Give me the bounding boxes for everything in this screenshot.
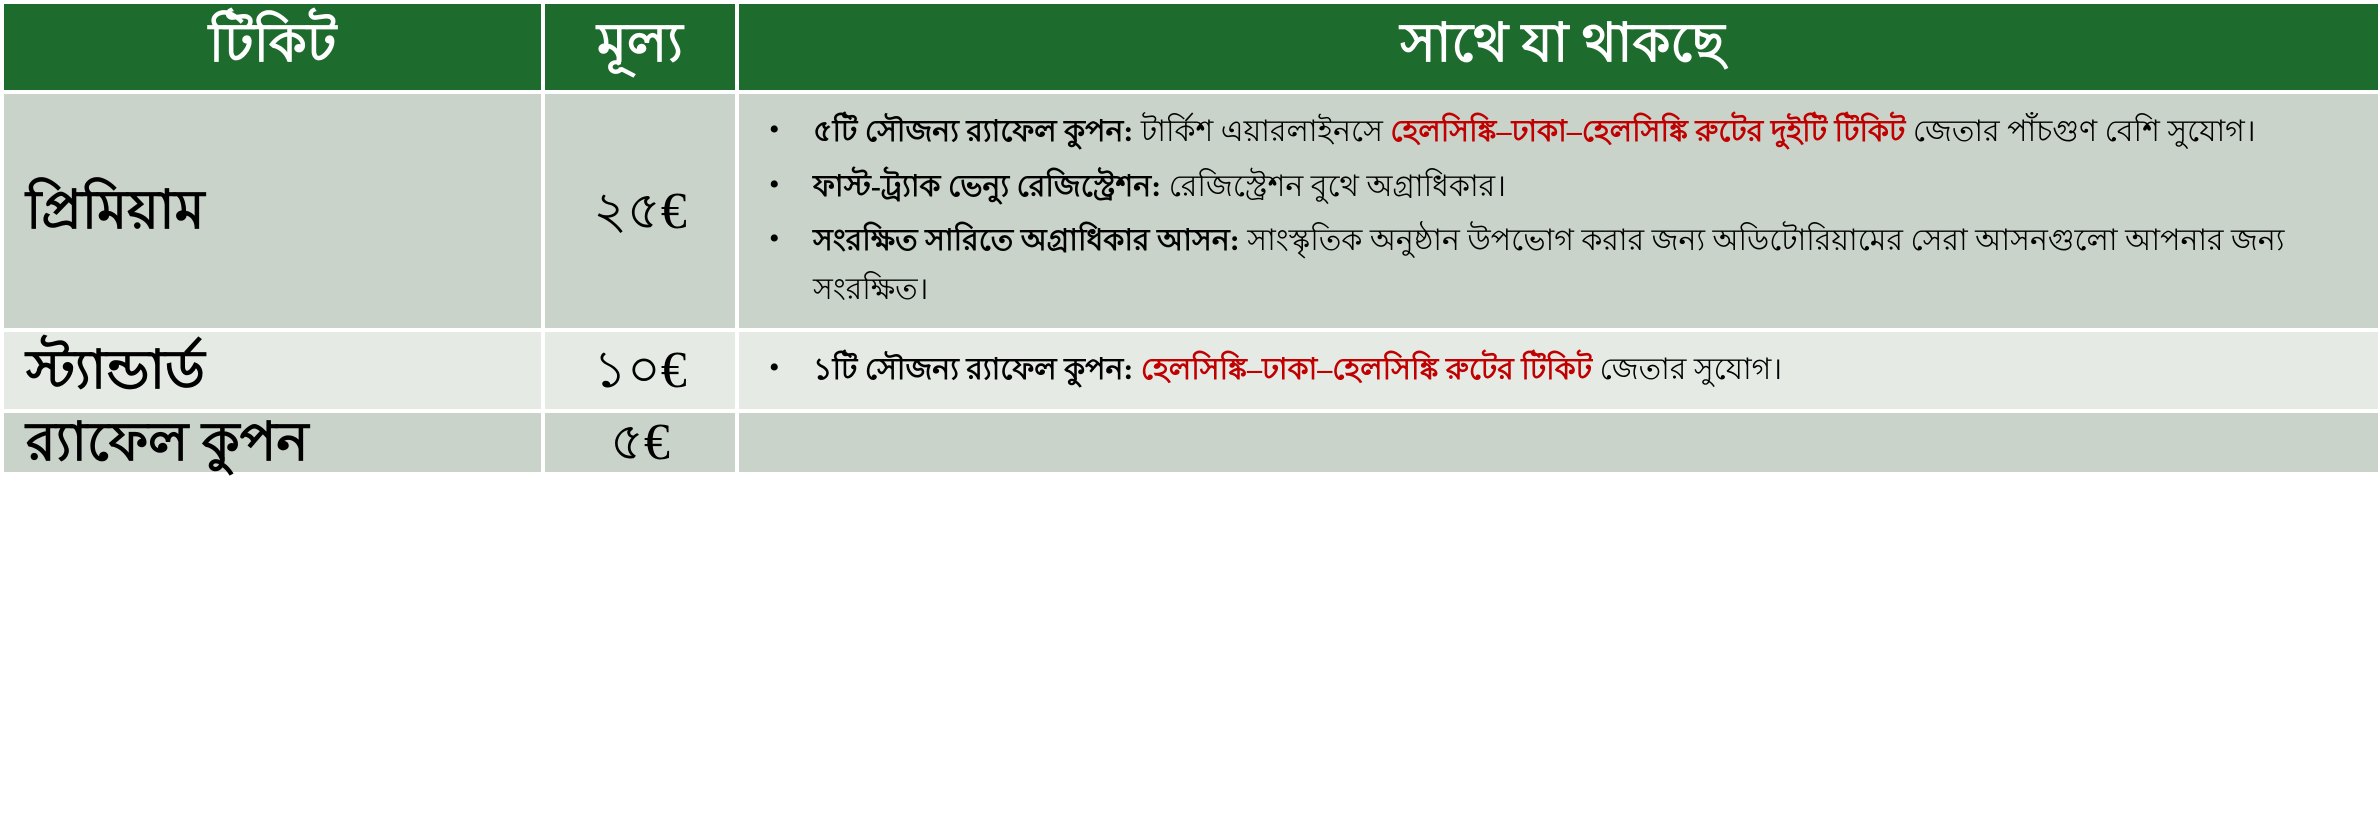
header-row: টিকিট মূল্য সাথে যা থাকছে xyxy=(4,4,2378,90)
ticket-price-raffle: ৫€ xyxy=(545,413,735,472)
list-item: ৫টি সৌজন্য র‍্যাফেল কুপন: টার্কিশ এয়ারল… xyxy=(813,108,2368,157)
ticket-benefits-standard: ১টি সৌজন্য র‍্যাফেল কুপন: হেলসিঙ্কি–ঢাকা… xyxy=(739,332,2378,409)
header-includes: সাথে যা থাকছে xyxy=(739,4,2378,90)
ticket-price-standard: ১০€ xyxy=(545,332,735,409)
benefit-tail: জেতার সুযোগ। xyxy=(1600,353,1782,386)
benefit-list: ১টি সৌজন্য র‍্যাফেল কুপন: হেলসিঙ্কি–ঢাকা… xyxy=(749,346,2368,395)
list-item: ফাস্ট-ট্র্যাক ভেন্যু রেজিস্ট্রেশন: রেজিস… xyxy=(813,163,2368,212)
header-ticket: টিকিট xyxy=(4,4,541,90)
table-body: প্রিমিয়াম ২৫€ ৫টি সৌজন্য র‍্যাফেল কুপন:… xyxy=(4,94,2378,472)
benefit-highlight: হেলসিঙ্কি–ঢাকা–হেলসিঙ্কি রুটের টিকিট xyxy=(1141,353,1592,386)
benefit-lead: সংরক্ষিত সারিতে অগ্রাধিকার আসন: xyxy=(813,224,1240,257)
benefit-lead: ১টি সৌজন্য র‍্যাফেল কুপন: xyxy=(813,353,1133,386)
ticket-benefits-raffle xyxy=(739,413,2378,472)
ticket-benefits-premium: ৫টি সৌজন্য র‍্যাফেল কুপন: টার্কিশ এয়ারল… xyxy=(739,94,2378,328)
ticket-pricing-table: টিকিট মূল্য সাথে যা থাকছে প্রিমিয়াম ২৫€… xyxy=(0,0,2378,476)
ticket-price-premium: ২৫€ xyxy=(545,94,735,328)
table-row: প্রিমিয়াম ২৫€ ৫টি সৌজন্য র‍্যাফেল কুপন:… xyxy=(4,94,2378,328)
table-header: টিকিট মূল্য সাথে যা থাকছে xyxy=(4,4,2378,90)
table-row: র‍্যাফেল কুপন ৫€ xyxy=(4,413,2378,472)
ticket-name-premium: প্রিমিয়াম xyxy=(4,94,541,328)
table-row: স্ট্যান্ডার্ড ১০€ ১টি সৌজন্য র‍্যাফেল কু… xyxy=(4,332,2378,409)
ticket-name-raffle: র‍্যাফেল কুপন xyxy=(4,413,541,472)
list-item: ১টি সৌজন্য র‍্যাফেল কুপন: হেলসিঙ্কি–ঢাকা… xyxy=(813,346,2368,395)
benefit-lead: ৫টি সৌজন্য র‍্যাফেল কুপন: xyxy=(813,115,1133,148)
benefit-list: ৫টি সৌজন্য র‍্যাফেল কুপন: টার্কিশ এয়ারল… xyxy=(749,108,2368,314)
benefit-lead: ফাস্ট-ট্র্যাক ভেন্যু রেজিস্ট্রেশন: xyxy=(813,170,1161,203)
benefit-tail: জেতার পাঁচগুণ বেশি সুযোগ। xyxy=(1913,115,2256,148)
benefit-mid: রেজিস্ট্রেশন বুথে অগ্রাধিকার। xyxy=(1169,170,1506,203)
list-item: সংরক্ষিত সারিতে অগ্রাধিকার আসন: সাংস্কৃত… xyxy=(813,217,2368,314)
benefit-mid: টার্কিশ এয়ারলাইনসে xyxy=(1141,115,1383,148)
header-price: মূল্য xyxy=(545,4,735,90)
ticket-name-standard: স্ট্যান্ডার্ড xyxy=(4,332,541,409)
benefit-highlight: হেলসিঙ্কি–ঢাকা–হেলসিঙ্কি রুটের দুইটি টিক… xyxy=(1390,115,1905,148)
